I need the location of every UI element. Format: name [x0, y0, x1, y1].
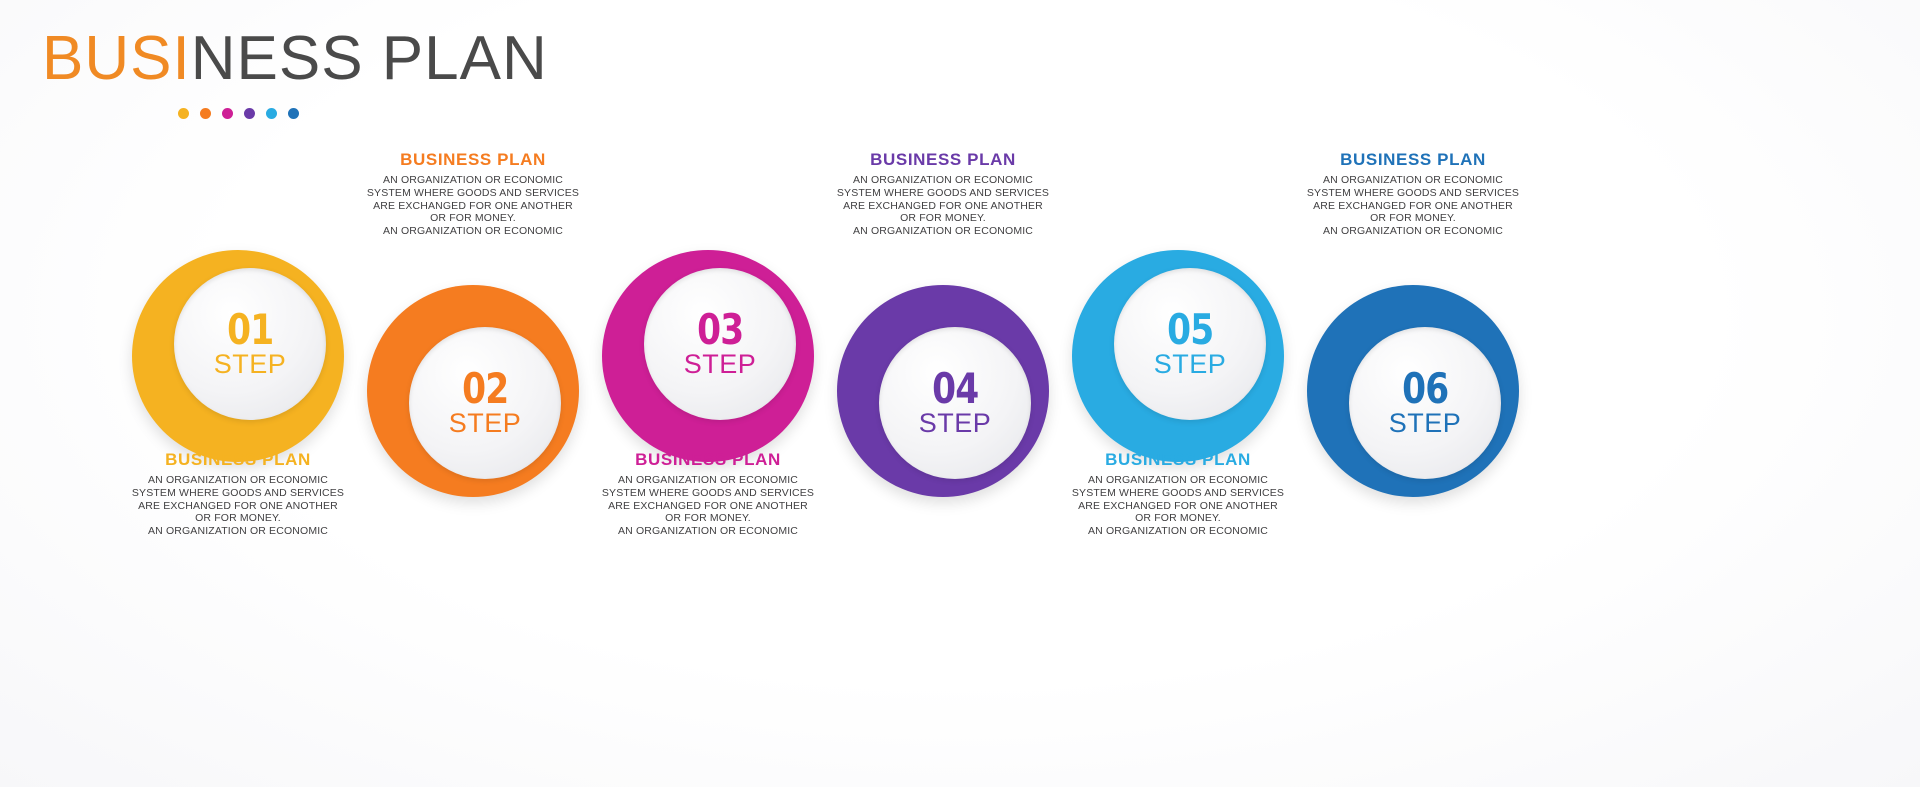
- step-ring-inner: 01STEP: [174, 268, 326, 420]
- step-ring-inner: 02STEP: [409, 327, 561, 479]
- step-number: 04: [932, 369, 978, 409]
- step-label: STEP: [449, 409, 522, 437]
- step-number: 03: [697, 310, 743, 350]
- step-number: 05: [1167, 310, 1213, 350]
- step-circle[interactable]: 02STEP: [367, 285, 579, 497]
- step-label: STEP: [684, 350, 757, 378]
- step-ring: 06STEP: [1307, 285, 1519, 497]
- step-ring-inner: 04STEP: [879, 327, 1031, 479]
- step-ring-inner: 05STEP: [1114, 268, 1266, 420]
- caption-body: AN ORGANIZATION OR ECONOMICSYSTEM WHERE …: [1263, 174, 1563, 238]
- step-circle[interactable]: 06STEP: [1307, 285, 1519, 497]
- step-label: STEP: [1154, 350, 1227, 378]
- step-label: STEP: [1389, 409, 1462, 437]
- step-number: 02: [462, 369, 508, 409]
- step-caption: BUSINESS PLANAN ORGANIZATION OR ECONOMIC…: [1263, 150, 1563, 238]
- step-number: 06: [1402, 369, 1448, 409]
- step-ring: 02STEP: [367, 285, 579, 497]
- step-ring-inner: 03STEP: [644, 268, 796, 420]
- step-circle[interactable]: 03STEP: [602, 250, 814, 462]
- step-label: STEP: [919, 409, 992, 437]
- steps-container: 01STEPBUSINESS PLANAN ORGANIZATION OR EC…: [0, 0, 1920, 787]
- step-number: 01: [227, 310, 273, 350]
- step-06[interactable]: 06STEPBUSINESS PLANAN ORGANIZATION OR EC…: [1263, 0, 1563, 787]
- step-ring: 03STEP: [602, 250, 814, 462]
- step-ring: 05STEP: [1072, 250, 1284, 462]
- step-ring: 04STEP: [837, 285, 1049, 497]
- step-ring: 01STEP: [132, 250, 344, 462]
- step-label: STEP: [214, 350, 287, 378]
- caption-heading: BUSINESS PLAN: [1263, 150, 1563, 170]
- step-circle[interactable]: 01STEP: [132, 250, 344, 462]
- step-circle[interactable]: 04STEP: [837, 285, 1049, 497]
- step-ring-inner: 06STEP: [1349, 327, 1501, 479]
- step-circle[interactable]: 05STEP: [1072, 250, 1284, 462]
